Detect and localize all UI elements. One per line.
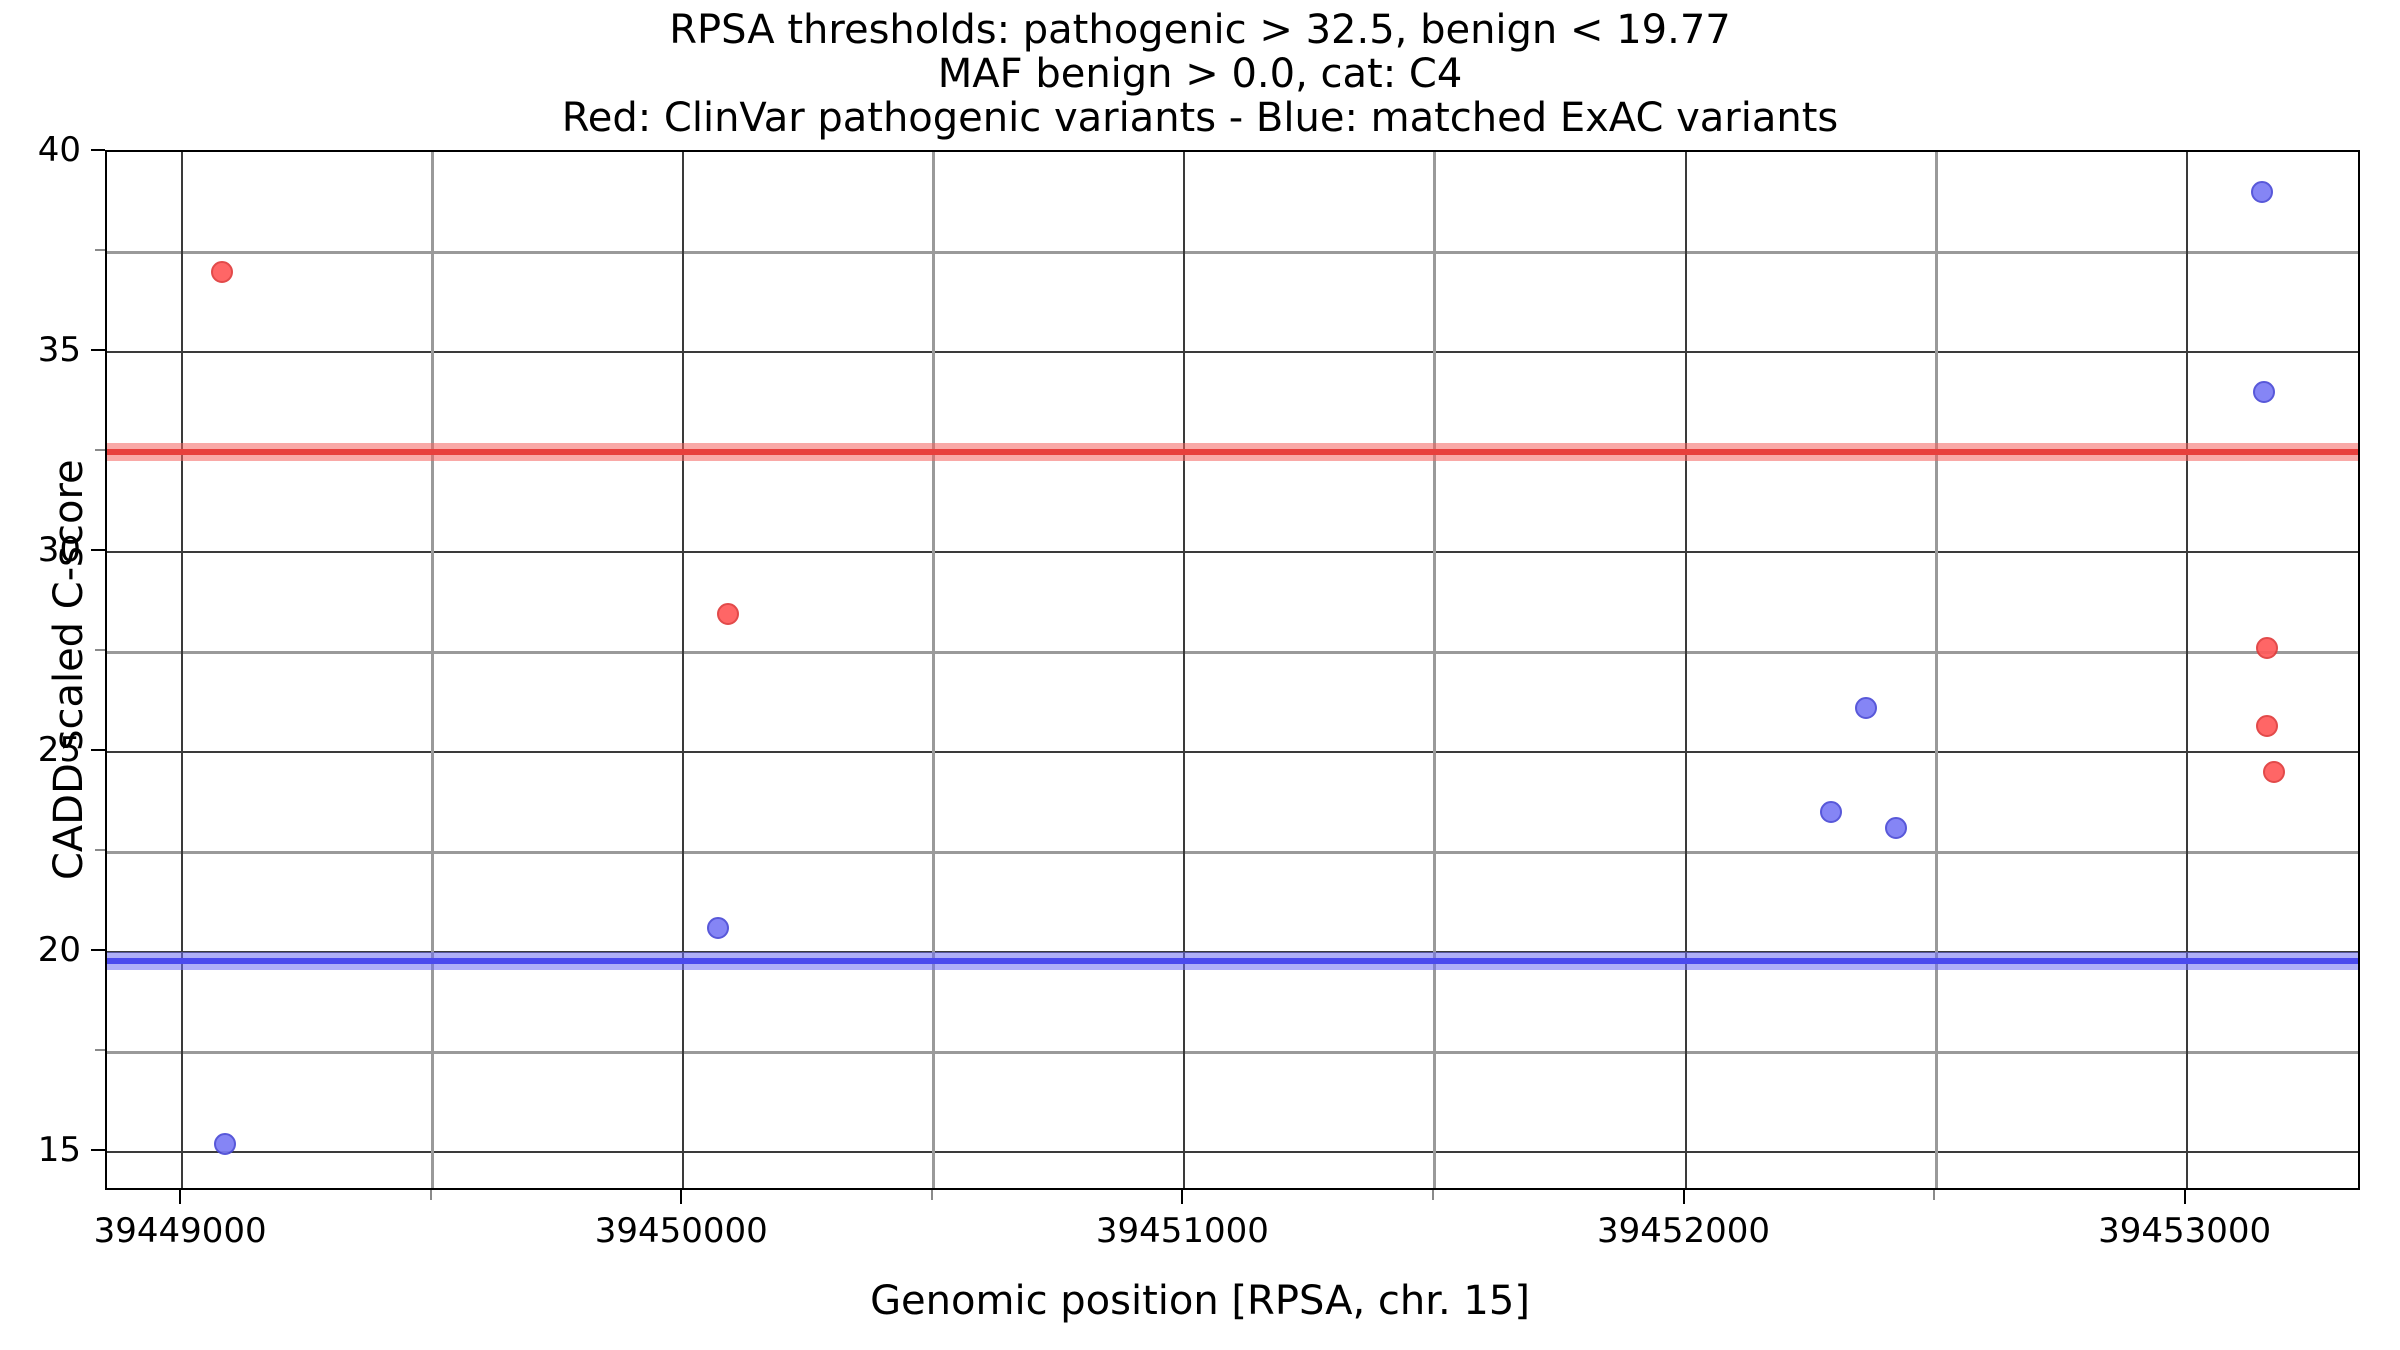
y-tick-mark-minor: [95, 1049, 105, 1051]
y-tick-label: 20: [0, 933, 81, 967]
gridline-horizontal-major: [107, 751, 2358, 753]
y-tick-mark: [91, 749, 105, 751]
y-tick-mark: [91, 349, 105, 351]
x-tick-mark-minor: [931, 1190, 933, 1200]
y-tick-mark: [91, 1149, 105, 1151]
chart-title-line-3: Red: ClinVar pathogenic variants - Blue:…: [0, 96, 2400, 140]
chart-title-line-2: MAF benign > 0.0, cat: C4: [0, 52, 2400, 96]
x-tick-mark: [179, 1190, 181, 1204]
chart-figure: RPSA thresholds: pathogenic > 32.5, beni…: [0, 0, 2400, 1350]
data-point-pathogenic: [2263, 761, 2285, 783]
x-tick-mark: [2184, 1190, 2186, 1204]
data-point-exac: [2251, 181, 2273, 203]
y-tick-mark: [91, 149, 105, 151]
y-tick-mark: [91, 549, 105, 551]
gridline-vertical-major: [2186, 152, 2188, 1188]
plot-area: [105, 150, 2360, 1190]
y-tick-label: 35: [0, 333, 81, 367]
x-tick-label: 39449000: [50, 1214, 310, 1248]
x-tick-label: 39451000: [1052, 1214, 1312, 1248]
data-point-exac: [1855, 697, 1877, 719]
data-point-exac: [707, 917, 729, 939]
threshold-core: [107, 958, 2358, 964]
gridline-vertical-major: [1685, 152, 1687, 1188]
x-tick-mark: [1683, 1190, 1685, 1204]
gridline-horizontal-major: [107, 551, 2358, 553]
x-tick-label: 39450000: [551, 1214, 811, 1248]
gridline-horizontal-minor: [107, 1051, 2358, 1054]
y-tick-mark-minor: [95, 249, 105, 251]
x-tick-label: 39453000: [2055, 1214, 2315, 1248]
data-point-exac: [1820, 801, 1842, 823]
x-tick-mark-minor: [1933, 1190, 1935, 1200]
data-point-exac: [214, 1133, 236, 1155]
x-tick-mark: [1181, 1190, 1183, 1204]
gridline-horizontal-minor: [107, 851, 2358, 854]
y-tick-label: 15: [0, 1133, 81, 1167]
gridline-horizontal-minor: [107, 651, 2358, 654]
x-tick-mark-minor: [1432, 1190, 1434, 1200]
gridline-horizontal-minor: [107, 251, 2358, 254]
x-axis-label: Genomic position [RPSA, chr. 15]: [0, 1278, 2400, 1324]
y-axis-label: CADD scaled C-score: [46, 459, 92, 880]
data-point-pathogenic: [2256, 637, 2278, 659]
y-tick-mark: [91, 949, 105, 951]
y-tick-label: 40: [0, 133, 81, 167]
gridline-horizontal-major: [107, 351, 2358, 353]
chart-title-line-1: RPSA thresholds: pathogenic > 32.5, beni…: [0, 8, 2400, 52]
gridline-vertical-minor: [932, 152, 935, 1188]
x-tick-mark: [680, 1190, 682, 1204]
y-tick-mark-minor: [95, 849, 105, 851]
chart-title: RPSA thresholds: pathogenic > 32.5, beni…: [0, 8, 2400, 140]
gridline-vertical-minor: [1433, 152, 1436, 1188]
data-point-exac: [1885, 817, 1907, 839]
gridline-vertical-minor: [1935, 152, 1938, 1188]
data-point-pathogenic: [717, 603, 739, 625]
data-point-exac: [2253, 381, 2275, 403]
gridline-horizontal-major: [107, 1151, 2358, 1153]
x-tick-label: 39452000: [1554, 1214, 1814, 1248]
threshold-core: [107, 449, 2358, 455]
gridline-vertical-major: [682, 152, 684, 1188]
x-tick-mark-minor: [430, 1190, 432, 1200]
gridline-vertical-minor: [431, 152, 434, 1188]
gridline-vertical-major: [181, 152, 183, 1188]
y-tick-mark-minor: [95, 449, 105, 451]
gridline-vertical-major: [1183, 152, 1185, 1188]
data-point-pathogenic: [2256, 715, 2278, 737]
data-point-pathogenic: [211, 261, 233, 283]
y-tick-mark-minor: [95, 649, 105, 651]
